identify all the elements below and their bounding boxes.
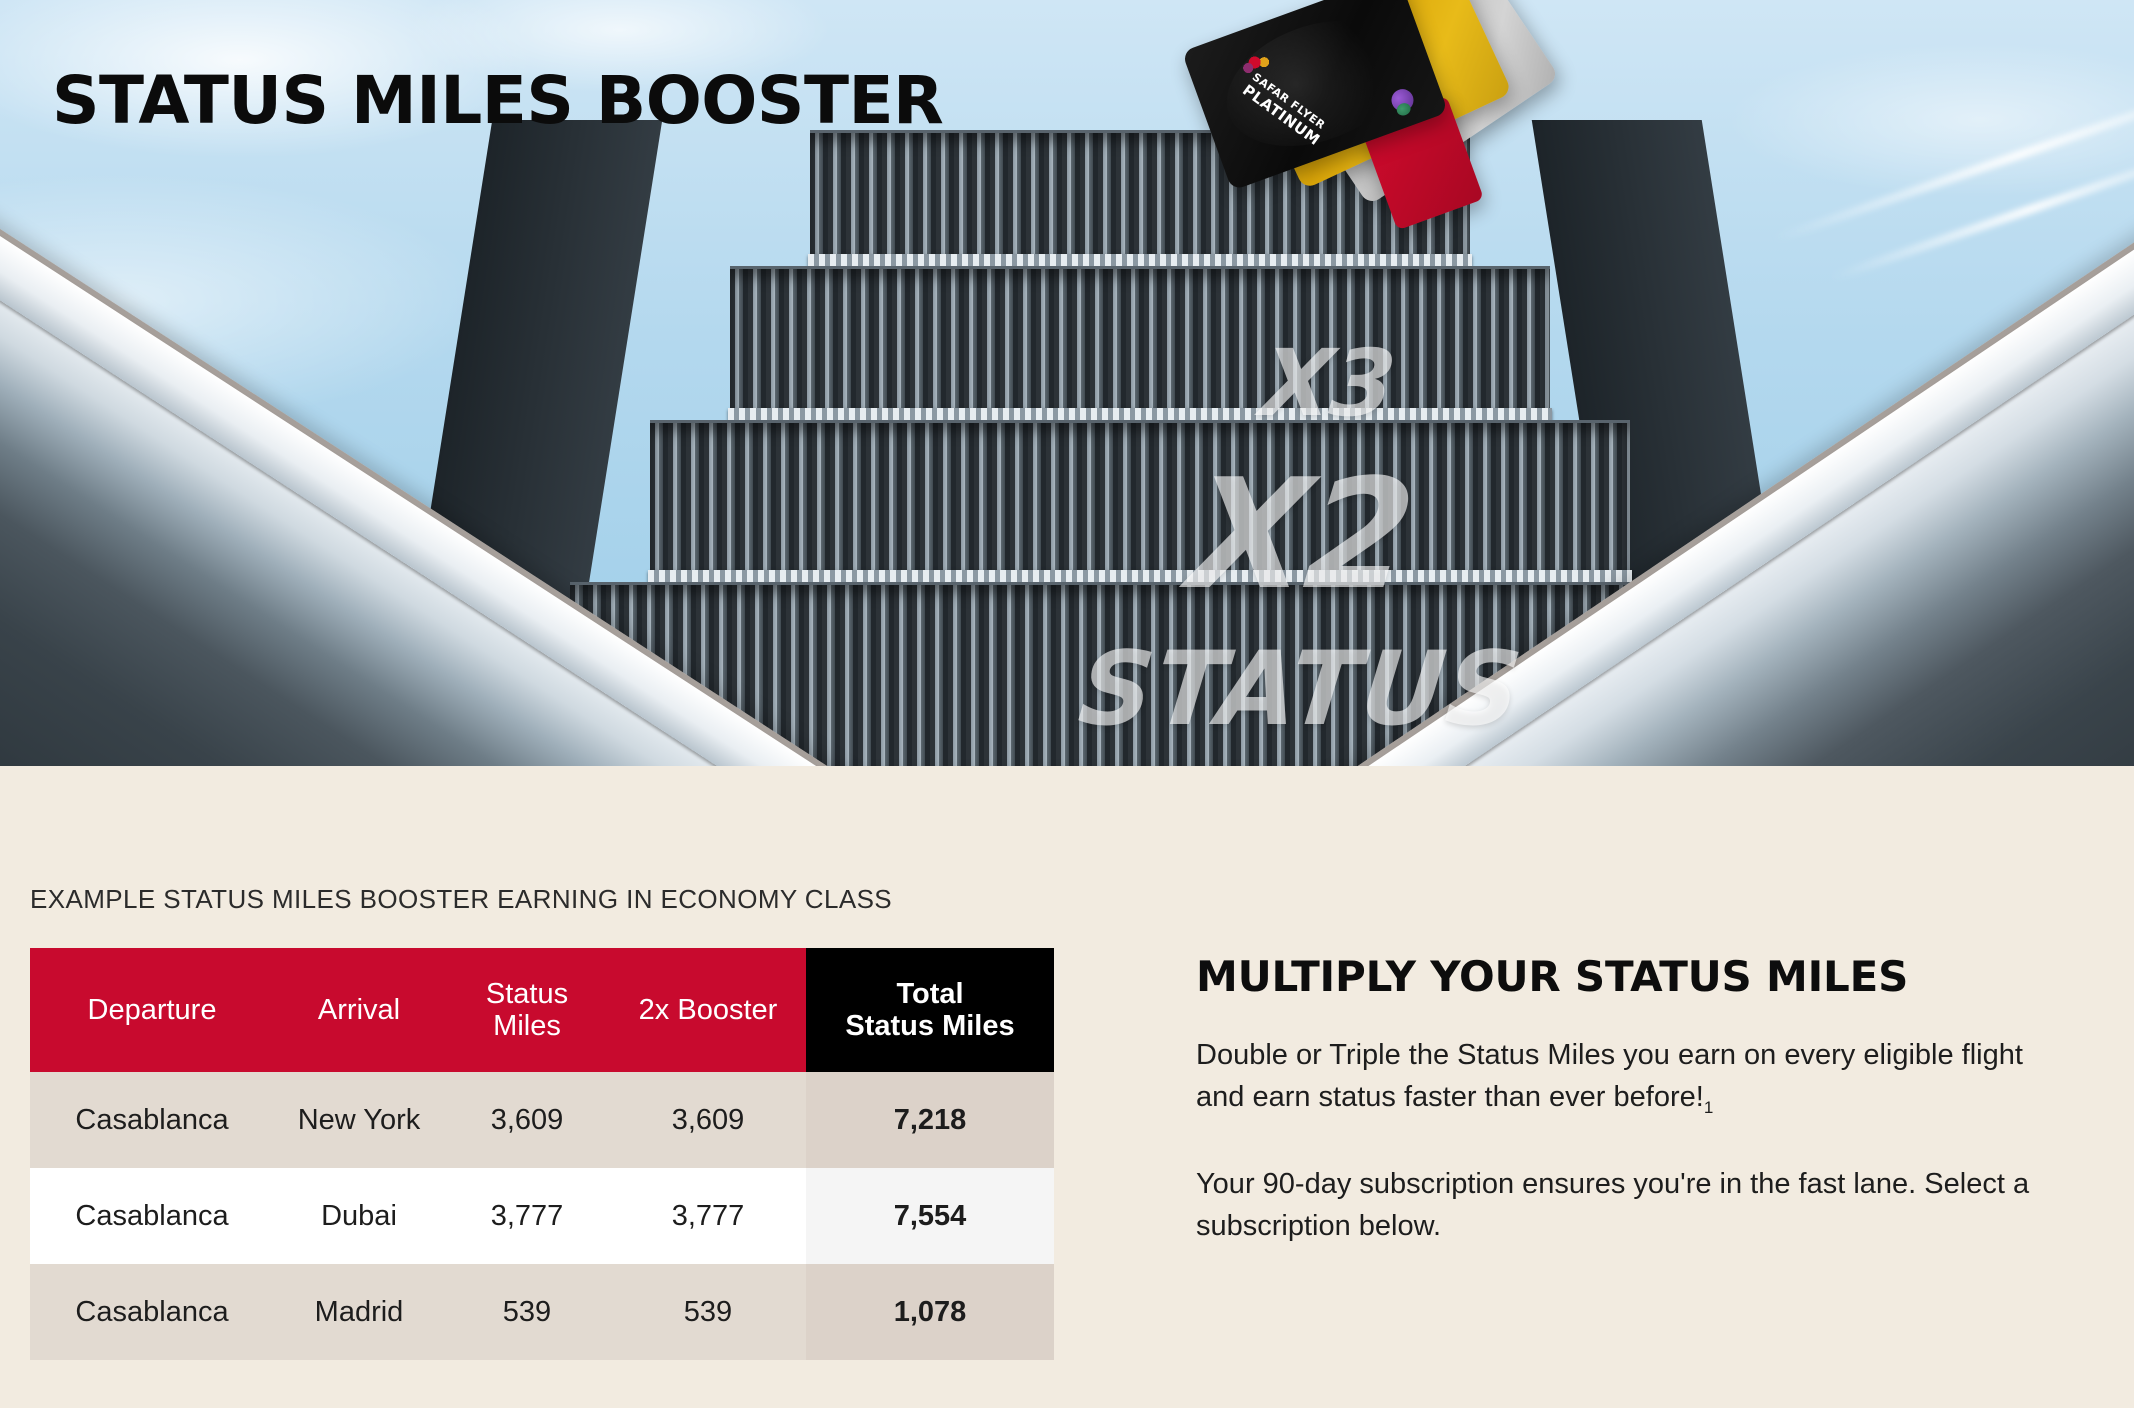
cell-departure: Casablanca [30,1168,274,1264]
cell-arrival: New York [274,1072,444,1168]
booster-earning-table: Departure Arrival Status Miles 2x Booste… [30,948,1054,1360]
cell-status-miles: 539 [444,1264,610,1360]
column-header-arrival: Arrival [274,948,444,1072]
cell-total: 7,554 [806,1168,1054,1264]
promo-paragraph-2: Your 90-day subscription ensures you're … [1196,1164,2076,1248]
content-section: EXAMPLE STATUS MILES BOOSTER EARNING IN … [0,766,2134,1408]
cell-arrival: Dubai [274,1168,444,1264]
cell-departure: Casablanca [30,1264,274,1360]
column-header-status-miles: Status Miles [444,948,610,1072]
cell-booster: 3,777 [610,1168,806,1264]
table-caption: EXAMPLE STATUS MILES BOOSTER EARNING IN … [30,884,892,915]
cell-booster: 539 [610,1264,806,1360]
cell-total: 7,218 [806,1072,1054,1168]
hero-banner: X3 X2 STATUS SAFAR FLYER PLATINUM [0,0,2134,766]
promo-text-column: MULTIPLY YOUR STATUS MILES Double or Tri… [1196,952,2076,1248]
table-row: Casablanca Madrid 539 539 1,078 [30,1264,1054,1360]
promo-paragraph-1-text: Double or Triple the Status Miles you ea… [1196,1039,2023,1113]
cell-status-miles: 3,609 [444,1072,610,1168]
promo-heading: MULTIPLY YOUR STATUS MILES [1196,952,2076,1001]
table-body: Casablanca New York 3,609 3,609 7,218 Ca… [30,1072,1054,1360]
booster-table-wrapper: Departure Arrival Status Miles 2x Booste… [30,948,1054,1360]
loyalty-card-fan: SAFAR FLYER PLATINUM [1190,0,1550,262]
cell-total: 1,078 [806,1264,1054,1360]
column-header-status-miles-line2: Miles [493,1010,561,1042]
cell-status-miles: 3,777 [444,1168,610,1264]
escalator-step [730,266,1550,416]
column-header-total-status-miles: Total Status Miles [806,948,1054,1072]
table-row: Casablanca Dubai 3,777 3,777 7,554 [30,1168,1054,1264]
escalator-step [650,420,1630,578]
cell-booster: 3,609 [610,1072,806,1168]
column-header-status-miles-line1: Status [486,978,568,1010]
column-header-total-line2: Status Miles [845,1010,1014,1042]
promo-paragraph-1: Double or Triple the Status Miles you ea… [1196,1035,2076,1120]
column-header-departure: Departure [30,948,274,1072]
column-header-total-line1: Total [896,978,963,1010]
column-header-booster: 2x Booster [610,948,806,1072]
cell-arrival: Madrid [274,1264,444,1360]
footnote-marker: 1 [1704,1098,1713,1117]
page-root: X3 X2 STATUS SAFAR FLYER PLATINUM [0,0,2134,1408]
table-header-row: Departure Arrival Status Miles 2x Booste… [30,948,1054,1072]
page-title: STATUS MILES BOOSTER [52,68,943,134]
table-row: Casablanca New York 3,609 3,609 7,218 [30,1072,1054,1168]
cell-departure: Casablanca [30,1072,274,1168]
